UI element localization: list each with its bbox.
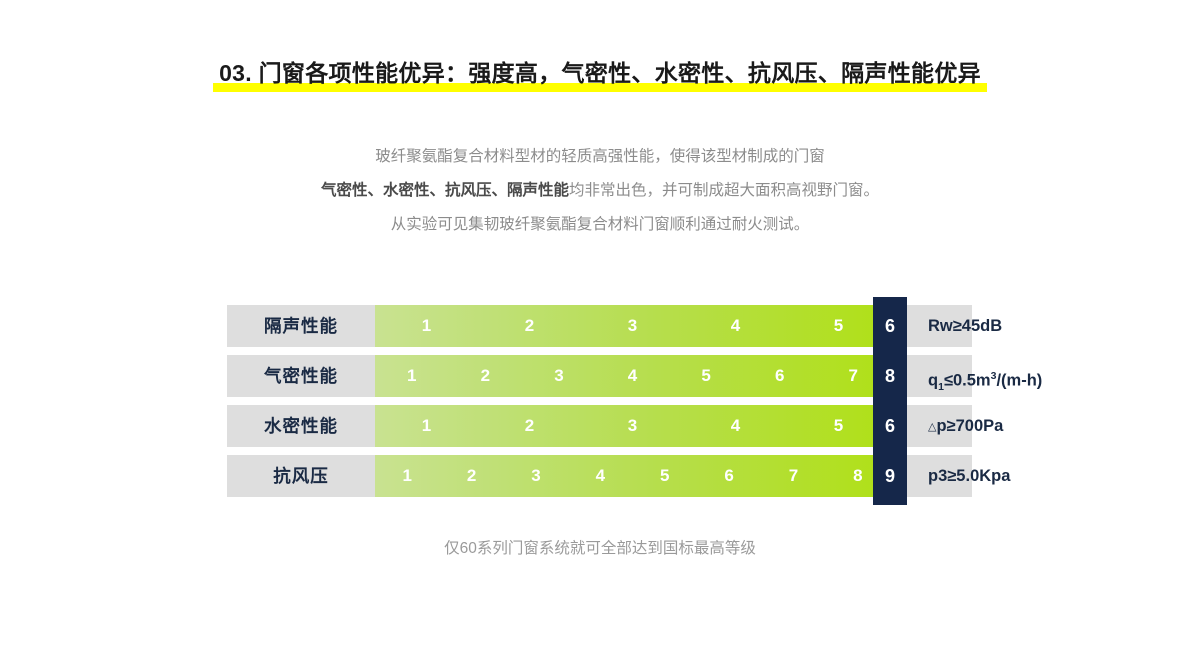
chart-level-tick: 4: [684, 305, 787, 347]
intro-line-2: 气密性、水密性、抗风压、隔声性能均非常出色，并可制成超大面积高视野门窗。: [0, 174, 1200, 208]
chart-row-label: 气密性能: [227, 355, 375, 397]
chart-level-tick: 1: [375, 355, 449, 397]
chart-level-tick: 4: [568, 455, 632, 497]
chart-row-label: 隔声性能: [227, 305, 375, 347]
chart-level-tick: 2: [478, 405, 581, 447]
chart-peak-level-badge: 9: [873, 447, 907, 505]
chart-level-tick: 6: [743, 355, 817, 397]
chart-level-tick: 3: [522, 355, 596, 397]
chart-level-tick: 5: [633, 455, 697, 497]
chart-level-tick: 3: [504, 455, 568, 497]
chart-row: 气密性能12345678q1≤0.5m3/(m-h): [227, 355, 972, 397]
chart-scale-bar: 12345: [375, 305, 890, 347]
chart-level-tick: 2: [449, 355, 523, 397]
chart-level-tick: 1: [375, 405, 478, 447]
chart-row: 水密性能123456△p≥700Pa: [227, 405, 972, 447]
chart-row-label: 抗风压: [227, 455, 375, 497]
page-title-inner: 03. 门窗各项性能优异：强度高，气密性、水密性、抗风压、隔声性能优异: [213, 58, 987, 92]
intro-line-3: 从实验可见集韧玻纤聚氨酯复合材料门窗顺利通过耐火测试。: [0, 208, 1200, 242]
chart-level-tick: 2: [439, 455, 503, 497]
page-title: 03. 门窗各项性能优异：强度高，气密性、水密性、抗风压、隔声性能优异: [0, 58, 1200, 92]
chart-footnote: 仅60系列门窗系统就可全部达到国标最高等级: [0, 536, 1200, 558]
chart-level-tick: 3: [581, 305, 684, 347]
intro-line-1: 玻纤聚氨酯复合材料型材的轻质高强性能，使得该型材制成的门窗: [0, 140, 1200, 174]
chart-row-spec-value: q1≤0.5m3/(m-h): [928, 355, 1042, 397]
chart-level-tick: 3: [581, 405, 684, 447]
chart-level-tick: 4: [596, 355, 670, 397]
performance-chart: 隔声性能123456Rw≥45dB气密性能12345678q1≤0.5m3/(m…: [227, 305, 972, 497]
chart-scale-bar: 12345: [375, 405, 890, 447]
chart-row-spec-value: Rw≥45dB: [928, 305, 1002, 347]
chart-level-tick: 4: [684, 405, 787, 447]
chart-row-label: 水密性能: [227, 405, 375, 447]
chart-level-tick: 7: [761, 455, 825, 497]
chart-row: 抗风压123456789p3≥5.0Kpa: [227, 455, 972, 497]
intro-line-2-rest: 均非常出色，并可制成超大面积高视野门窗。: [569, 182, 879, 199]
intro-paragraph: 玻纤聚氨酯复合材料型材的轻质高强性能，使得该型材制成的门窗 气密性、水密性、抗风…: [0, 140, 1200, 242]
chart-row-spec-value: △p≥700Pa: [928, 405, 1003, 447]
chart-scale-bar: 1234567: [375, 355, 890, 397]
chart-row-spec-value: p3≥5.0Kpa: [928, 455, 1010, 497]
intro-line-2-strong: 气密性、水密性、抗风压、隔声性能: [321, 182, 569, 199]
page-title-text: 03. 门窗各项性能优异：强度高，气密性、水密性、抗风压、隔声性能优异: [219, 60, 981, 86]
chart-level-tick: 1: [375, 305, 478, 347]
chart-row: 隔声性能123456Rw≥45dB: [227, 305, 972, 347]
chart-scale-bar: 12345678: [375, 455, 890, 497]
chart-level-tick: 6: [697, 455, 761, 497]
chart-level-tick: 2: [478, 305, 581, 347]
chart-level-tick: 5: [669, 355, 743, 397]
chart-level-tick: 1: [375, 455, 439, 497]
